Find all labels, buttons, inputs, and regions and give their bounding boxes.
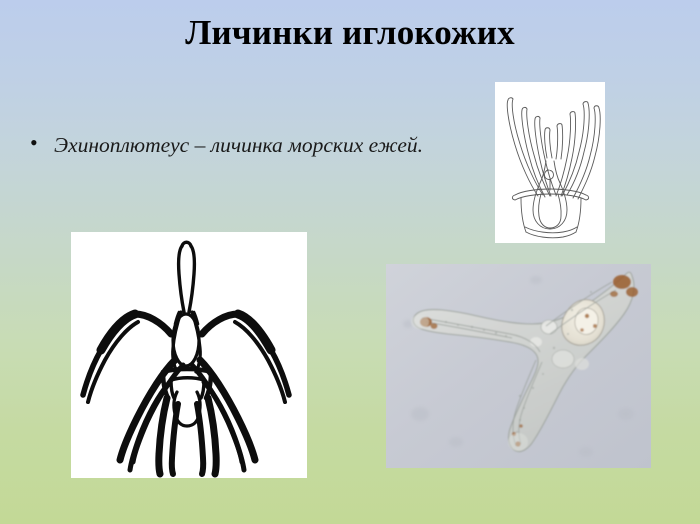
bullet-item-label: Эхиноплютеус – личинка морских ежей.: [54, 126, 436, 164]
figure-echinopluteus-skeleton: [71, 232, 307, 478]
list-item: • Эхиноплютеус – личинка морских ежей.: [26, 126, 436, 164]
page-title: Личинки иглокожих: [0, 14, 700, 53]
echinopluteus-line-art-icon: [495, 82, 605, 243]
bullet-list: • Эхиноплютеус – личинка морских ежей.: [26, 126, 436, 164]
bullet-icon: •: [26, 126, 54, 160]
figure-echinopluteus-micrograph: [386, 264, 651, 468]
echinopluteus-photo-icon: [386, 264, 651, 468]
slide-canvas: Личинки иглокожих • Эхиноплютеус – личин…: [0, 0, 700, 524]
figure-echinopluteus-drawing-top: [495, 82, 605, 243]
echinopluteus-skeleton-icon: [71, 232, 307, 478]
